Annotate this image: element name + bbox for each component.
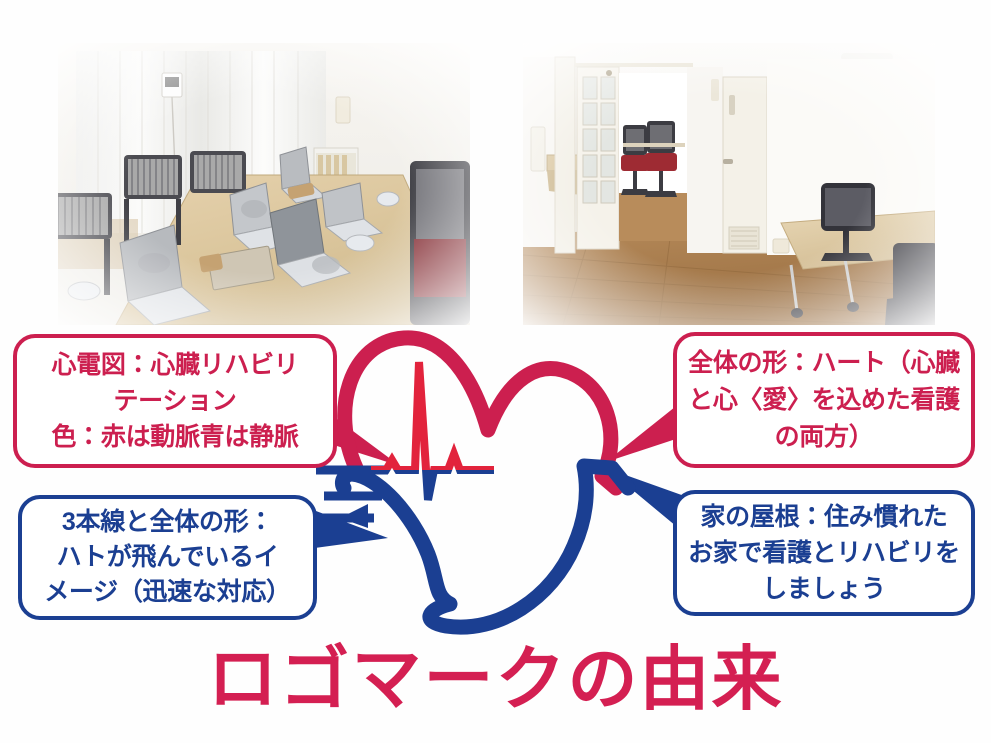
callout-house-roof[interactable]: 家の屋根：住み慣れた お家で看護とリハビリを しましょう <box>673 490 975 616</box>
callout-dove-lines-text: 3本線と全体の形： ハトが飛んでいるイ メージ（迅速な対応） <box>22 505 313 610</box>
office-interior-photo-image <box>523 43 935 325</box>
callout-heart-shape[interactable]: 全体の形：ハート（心臓 と心〈愛〉を込めた看護 の両方） <box>673 332 975 468</box>
meeting-room-photo <box>58 43 470 325</box>
callout-ecg[interactable]: 心電図：心臓リハビリ テーション 色：赤は動脈青は静脈 <box>13 334 337 468</box>
heart-dove-ecg-logo <box>316 318 666 638</box>
meeting-room-photo-image <box>58 43 470 325</box>
callout-dove-lines[interactable]: 3本線と全体の形： ハトが飛んでいるイ メージ（迅速な対応） <box>18 495 317 620</box>
callout-house-roof-text: 家の屋根：住み慣れた お家で看護とリハビリを しましょう <box>677 499 971 607</box>
poster-canvas: 心電図：心臓リハビリ テーション 色：赤は動脈青は静脈 全体の形：ハート（心臓 … <box>0 0 991 743</box>
callout-ecg-text: 心電図：心臓リハビリ テーション 色：赤は動脈青は静脈 <box>17 347 333 455</box>
office-interior-photo <box>523 43 935 325</box>
page-title: ロゴマークの由来 <box>0 636 991 722</box>
callout-heart-shape-text: 全体の形：ハート（心臓 と心〈愛〉を込めた看護 の両方） <box>677 345 971 456</box>
